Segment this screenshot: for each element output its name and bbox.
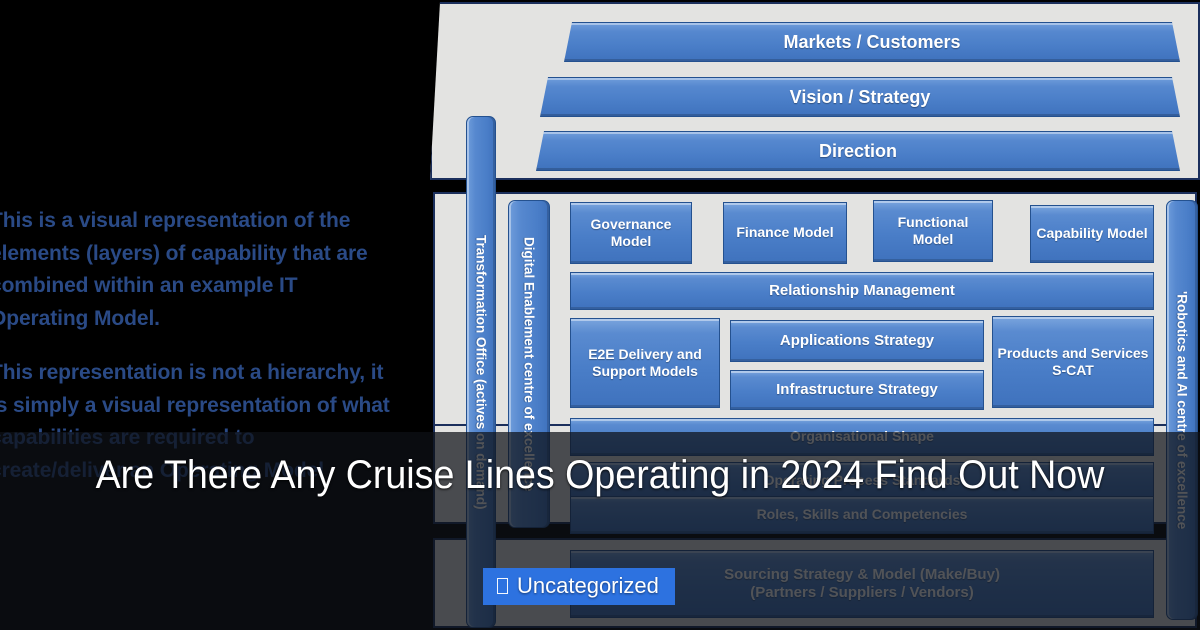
description-paragraph-1: This is a visual representation of the e… [0,205,390,335]
category-badge-label: Uncategorized [517,573,659,599]
box-products-services-scat: Products and Services S-CAT [992,316,1154,408]
roof-bar-direction: Direction [536,131,1180,171]
box-capability-model: Capability Model [1030,205,1154,263]
page-title: Are There Any Cruise Lines Operating in … [36,452,1164,499]
paragraph-spacer [0,335,390,357]
box-e2e-delivery-support-models: E2E Delivery and Support Models [570,318,720,408]
box-label: Relationship Management [769,282,955,300]
diagram-roof: Markets / Customers Vision / Strategy Di… [430,2,1200,180]
box-functional-model: Functional Model [873,200,993,262]
box-relationship-management: Relationship Management [570,272,1154,310]
box-label: Products and Services S-CAT [997,345,1149,379]
box-label: Governance Model [575,216,687,250]
box-label: Finance Model [736,224,833,241]
roof-bar-label: Direction [819,141,897,162]
folder-icon [497,578,508,594]
roof-bar-label: Markets / Customers [783,32,960,53]
page-canvas: Markets / Customers Vision / Strategy Di… [0,0,1200,630]
box-finance-model: Finance Model [723,202,847,264]
box-label: E2E Delivery and Support Models [575,346,715,380]
roof-bar-label: Vision / Strategy [790,87,931,108]
box-applications-strategy: Applications Strategy [730,320,984,362]
roof-bar-markets-customers: Markets / Customers [564,22,1180,62]
box-label: Functional Model [878,214,988,248]
box-label: Applications Strategy [780,332,934,350]
box-governance-model: Governance Model [570,202,692,264]
box-infrastructure-strategy: Infrastructure Strategy [730,370,984,410]
category-badge[interactable]: Uncategorized [483,568,675,605]
box-label: Infrastructure Strategy [776,381,938,399]
roof-bar-vision-strategy: Vision / Strategy [540,77,1180,117]
box-label: Capability Model [1036,225,1147,242]
